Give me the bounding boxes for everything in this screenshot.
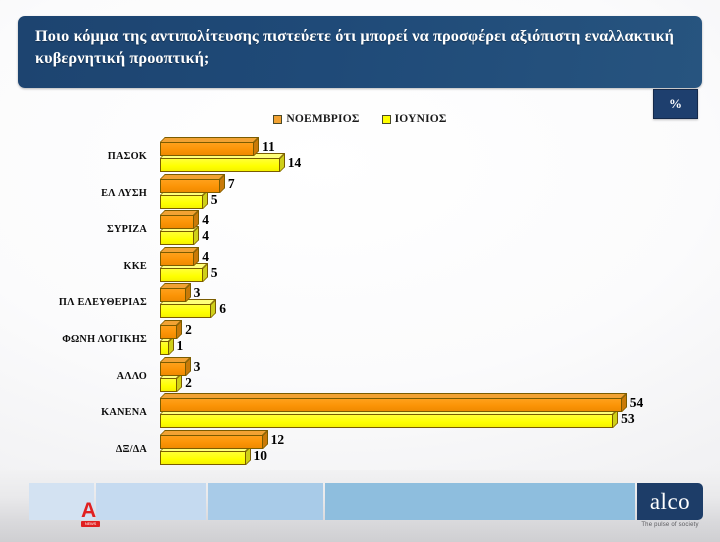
alco-tagline: The pulse of society xyxy=(630,522,710,528)
bar-side-face xyxy=(280,153,285,172)
bar-value-label: 3 xyxy=(194,285,201,301)
chart-category-label: ΚΑΝΕΝΑ xyxy=(0,407,147,418)
bar-value-label: 10 xyxy=(254,448,268,464)
legend-item-june: ΙΟΥΝΙΟΣ xyxy=(382,113,447,125)
alco-logo: alco xyxy=(637,483,703,520)
chart-bar-november: 54 xyxy=(160,393,622,408)
chart-bar-november: 4 xyxy=(160,247,194,262)
legend-label-november: ΝΟΕΜΒΡΙΟΣ xyxy=(286,113,359,125)
bar-value-label: 4 xyxy=(202,249,209,265)
bar-front-face xyxy=(160,215,194,229)
bar-side-face xyxy=(211,299,216,318)
chart-category-label: ΑΛΛΟ xyxy=(0,371,147,382)
chart-bar-november: 11 xyxy=(160,137,254,152)
bar-value-label: 7 xyxy=(228,176,235,192)
bar-front-face xyxy=(160,304,211,318)
chart-bar-november: 2 xyxy=(160,320,177,335)
bar-value-label: 5 xyxy=(211,192,218,208)
bar-front-face xyxy=(160,414,613,428)
bar-side-face xyxy=(194,226,199,245)
chart-category-label: ΠΑΣΟΚ xyxy=(0,151,147,162)
chart-category-label: ΚΚΕ xyxy=(0,261,147,272)
chart-category-label: ΣΥΡΙΖΑ xyxy=(0,224,147,235)
alco-logo-text: alco xyxy=(650,490,690,513)
chart-category-group: ΚΑΝΕΝΑ5453 xyxy=(0,393,720,431)
bar-value-label: 11 xyxy=(262,139,275,155)
bar-top-face xyxy=(160,430,268,435)
chart-category-group: ΚΚΕ45 xyxy=(0,247,720,285)
bar-side-face xyxy=(622,393,627,412)
bar-value-label: 6 xyxy=(219,301,226,317)
bar-value-label: 4 xyxy=(202,228,209,244)
footer-block-2 xyxy=(96,483,206,520)
bar-value-label: 14 xyxy=(288,155,302,171)
chart-category-label: ΔΞ/ΔΑ xyxy=(0,444,147,455)
bar-value-label: 3 xyxy=(194,359,201,375)
slide-canvas: Ποιο κόμμα της αντιπολίτευσης πιστεύετε … xyxy=(0,0,720,542)
chart-category-group: ΣΥΡΙΖΑ44 xyxy=(0,210,720,248)
bar-front-face xyxy=(160,398,622,412)
footer-block-3 xyxy=(208,483,323,520)
title-banner: Ποιο κόμμα της αντιπολίτευσης πιστεύετε … xyxy=(18,16,702,88)
chart-category-label: ΦΩΝΗ ΛΟΓΙΚΗΣ xyxy=(0,334,147,345)
bar-front-face xyxy=(160,158,280,172)
bar-front-face xyxy=(160,451,246,465)
bar-front-face xyxy=(160,325,177,339)
bar-front-face xyxy=(160,252,194,266)
bar-side-face xyxy=(220,174,225,193)
chart-category-group: ΕΛ ΛΥΣΗ75 xyxy=(0,174,720,212)
bar-front-face xyxy=(160,435,263,449)
chart-bar-november: 7 xyxy=(160,174,220,189)
legend-swatch-november xyxy=(273,115,282,124)
bar-front-face xyxy=(160,288,186,302)
bar-front-face xyxy=(160,195,203,209)
bar-value-label: 53 xyxy=(621,411,635,427)
legend-swatch-june xyxy=(382,115,391,124)
bar-value-label: 12 xyxy=(271,432,285,448)
legend-label-june: ΙΟΥΝΙΟΣ xyxy=(395,113,447,125)
bar-top-face xyxy=(160,137,259,142)
page-title: Ποιο κόμμα της αντιπολίτευσης πιστεύετε … xyxy=(35,25,686,68)
chart-category-group: ΦΩΝΗ ΛΟΓΙΚΗΣ21 xyxy=(0,320,720,358)
bar-front-face xyxy=(160,268,203,282)
bar-top-face xyxy=(160,174,225,179)
bar-value-label: 1 xyxy=(177,338,184,354)
bar-value-label: 5 xyxy=(211,265,218,281)
bar-side-face xyxy=(177,320,182,339)
chart-category-group: ΠΑΣΟΚ1114 xyxy=(0,137,720,175)
chart-category-label: ΠΛ ΕΛΕΥΘΕΡΙΑΣ xyxy=(0,297,147,308)
bar-value-label: 54 xyxy=(630,395,644,411)
chart-legend: ΝΟΕΜΒΡΙΟΣ ΙΟΥΝΙΟΣ xyxy=(0,113,720,125)
bar-side-face xyxy=(203,263,208,282)
bar-front-face xyxy=(160,179,220,193)
bar-value-label: 4 xyxy=(202,212,209,228)
bar-front-face xyxy=(160,378,177,392)
bar-front-face xyxy=(160,341,169,355)
slide-footer: A NEWS alco The pulse of society xyxy=(0,470,720,542)
bar-front-face xyxy=(160,142,254,156)
bar-top-face xyxy=(160,393,627,398)
chart-bar-november: 4 xyxy=(160,210,194,225)
footer-block-4 xyxy=(325,483,635,520)
footer-block-logo: A NEWS xyxy=(29,483,94,520)
bar-front-face xyxy=(160,362,186,376)
chart-category-group: ΠΛ ΕΛΕΥΘΕΡΙΑΣ36 xyxy=(0,283,720,321)
chart-plot-area: ΠΑΣΟΚ1114ΕΛ ΛΥΣΗ75ΣΥΡΙΖΑ44ΚΚΕ45ΠΛ ΕΛΕΥΘΕ… xyxy=(0,133,720,468)
chart-category-label: ΕΛ ΛΥΣΗ xyxy=(0,188,147,199)
chart-bar-november: 3 xyxy=(160,357,186,372)
chart-category-group: ΔΞ/ΔΑ1210 xyxy=(0,430,720,468)
legend-item-november: ΝΟΕΜΒΡΙΟΣ xyxy=(273,113,359,125)
chart-category-group: ΑΛΛΟ32 xyxy=(0,357,720,395)
bar-value-label: 2 xyxy=(185,375,192,391)
chart-bar-november: 12 xyxy=(160,430,263,445)
bar-value-label: 2 xyxy=(185,322,192,338)
bar-front-face xyxy=(160,231,194,245)
chart-bar-november: 3 xyxy=(160,283,186,298)
